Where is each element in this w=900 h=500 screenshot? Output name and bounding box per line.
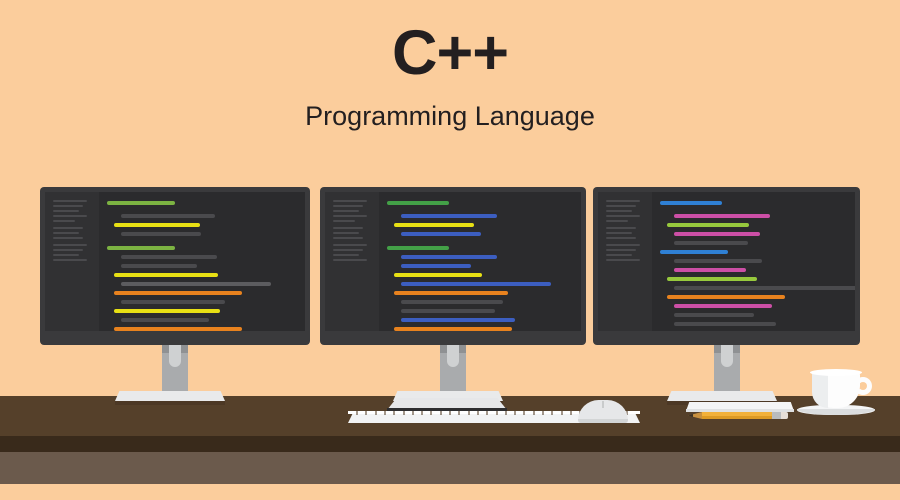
code-line [114, 273, 218, 277]
file-tree-item[interactable] [333, 249, 363, 251]
code-line [674, 268, 746, 272]
monitor-center-bezel [320, 187, 586, 345]
file-tree-item[interactable] [606, 205, 636, 207]
monitor-right[interactable] [593, 187, 860, 345]
code-line [114, 309, 220, 313]
code-line [387, 201, 449, 205]
monitor-center-screen[interactable] [325, 192, 581, 331]
code-line [121, 264, 197, 268]
keyboard-key[interactable] [365, 411, 367, 415]
file-tree-item[interactable] [53, 249, 83, 251]
monitor-left-stand-neck [162, 345, 188, 391]
file-tree-item[interactable] [333, 232, 359, 234]
file-tree-item[interactable] [53, 200, 87, 202]
file-tree-item[interactable] [333, 210, 359, 212]
keyboard-key[interactable] [403, 411, 405, 415]
code-line [667, 223, 749, 227]
keyboard-key[interactable] [542, 411, 544, 415]
keyboard-key[interactable] [505, 411, 507, 415]
monitor-right-screen[interactable] [598, 192, 855, 331]
monitor-center-file-tree[interactable] [325, 192, 379, 331]
code-line [114, 327, 242, 331]
file-tree-item[interactable] [606, 259, 640, 261]
monitor-right-bezel [593, 187, 860, 345]
code-line [401, 264, 471, 268]
code-line [401, 300, 503, 304]
file-tree-item[interactable] [333, 259, 367, 261]
file-tree-item[interactable] [606, 237, 636, 239]
pencil-shadow [702, 416, 772, 419]
code-line [401, 255, 497, 259]
code-line [674, 214, 770, 218]
file-tree-item[interactable] [53, 232, 79, 234]
code-line [674, 232, 760, 236]
monitor-center-code-area[interactable] [379, 192, 581, 331]
code-line [401, 318, 515, 322]
code-line [674, 304, 772, 308]
monitor-center[interactable] [320, 187, 586, 345]
stand-slot [447, 345, 459, 367]
mouse-base [578, 419, 628, 423]
code-line [121, 300, 225, 304]
stand-slot [169, 345, 181, 367]
file-tree-item[interactable] [606, 227, 636, 229]
code-line [674, 313, 754, 317]
keyboard-key[interactable] [523, 411, 525, 415]
keyboard-key[interactable] [514, 411, 516, 415]
code-line [114, 223, 200, 227]
code-line [394, 291, 508, 295]
file-tree-item[interactable] [333, 220, 355, 222]
file-tree-item[interactable] [333, 205, 363, 207]
file-tree-item[interactable] [53, 215, 87, 217]
monitor-center-stand-neck [440, 345, 466, 391]
code-line [387, 246, 449, 250]
code-line [667, 295, 785, 299]
keyboard-key[interactable] [430, 411, 432, 415]
monitor-right-stand-base [667, 391, 777, 401]
code-line [674, 259, 762, 263]
keyboard-key[interactable] [375, 411, 377, 415]
desk-edge [0, 436, 900, 452]
keyboard-key[interactable] [458, 411, 460, 415]
keyboard-key[interactable] [551, 411, 553, 415]
keyboard-key[interactable] [533, 411, 535, 415]
file-tree-item[interactable] [606, 254, 632, 256]
file-tree-item[interactable] [333, 215, 367, 217]
code-line [114, 291, 242, 295]
file-tree-item[interactable] [606, 244, 640, 246]
code-line [107, 246, 175, 250]
code-line [394, 223, 474, 227]
monitor-right-file-tree[interactable] [598, 192, 652, 331]
keyboard-key[interactable] [384, 411, 386, 415]
keyboard-key[interactable] [477, 411, 479, 415]
file-tree-item[interactable] [333, 237, 363, 239]
mouse-scroll-wheel[interactable] [602, 401, 604, 408]
file-tree-item[interactable] [606, 210, 632, 212]
code-line [674, 241, 748, 245]
file-tree-item[interactable] [606, 215, 640, 217]
code-line [394, 273, 482, 277]
keyboard-key[interactable] [468, 411, 470, 415]
keyboard-key[interactable] [393, 411, 395, 415]
file-tree-item[interactable] [606, 249, 636, 251]
code-line [401, 232, 481, 236]
code-line [121, 318, 209, 322]
keyboard-key[interactable] [486, 411, 488, 415]
file-tree-item[interactable] [333, 254, 359, 256]
keyboard-key[interactable] [561, 411, 563, 415]
cup-rim [810, 369, 862, 376]
file-tree-item[interactable] [53, 220, 75, 222]
code-line [121, 282, 271, 286]
monitor-left-file-tree[interactable] [45, 192, 99, 331]
page-title: C++ [0, 22, 900, 85]
file-tree-item[interactable] [53, 237, 83, 239]
code-line [401, 282, 551, 286]
stand-slot [721, 345, 733, 367]
file-tree-item[interactable] [333, 200, 367, 202]
code-line [667, 277, 757, 281]
file-tree-item[interactable] [53, 244, 87, 246]
file-tree-item[interactable] [606, 232, 632, 234]
file-tree-item[interactable] [53, 205, 83, 207]
file-tree-item[interactable] [606, 220, 628, 222]
monitor-left-bezel [40, 187, 310, 345]
pencil-eraser [781, 412, 788, 419]
code-line [674, 322, 776, 326]
file-tree-item[interactable] [606, 200, 640, 202]
code-line [394, 327, 512, 331]
code-line [121, 232, 201, 236]
code-line [660, 250, 728, 254]
code-line [674, 286, 855, 290]
monitor-left-stand-base-shadow [115, 401, 225, 405]
file-tree-item[interactable] [53, 227, 83, 229]
keyboard-key[interactable] [496, 411, 498, 415]
code-line [660, 201, 722, 205]
desk-front-panel [0, 452, 900, 484]
file-tree-item[interactable] [53, 259, 87, 261]
monitor-left-stand-base [115, 391, 225, 401]
keyboard-key[interactable] [356, 411, 358, 415]
monitor-left-screen[interactable] [45, 192, 305, 331]
monitor-left-code-area[interactable] [99, 192, 305, 331]
illustration-stage: C++ Programming Language [0, 0, 900, 500]
file-tree-item[interactable] [53, 210, 79, 212]
monitor-left[interactable] [40, 187, 310, 345]
page-subtitle: Programming Language [0, 101, 900, 132]
file-tree-item[interactable] [53, 254, 79, 256]
code-line [107, 201, 175, 205]
keyboard-key[interactable] [440, 411, 442, 415]
monitor-right-stand-neck [714, 345, 740, 391]
title-block: C++ Programming Language [0, 22, 900, 132]
keyboard-key[interactable] [449, 411, 451, 415]
file-tree-item[interactable] [333, 227, 363, 229]
keyboard-key[interactable] [421, 411, 423, 415]
file-tree-item[interactable] [333, 244, 367, 246]
code-line [401, 214, 497, 218]
keyboard-key[interactable] [412, 411, 414, 415]
pencil-ferrule [772, 412, 781, 419]
code-line [121, 255, 217, 259]
code-line [121, 214, 215, 218]
floor [0, 484, 900, 500]
code-line [401, 309, 495, 313]
monitor-right-code-area[interactable] [652, 192, 855, 331]
keyboard-key[interactable] [570, 411, 572, 415]
